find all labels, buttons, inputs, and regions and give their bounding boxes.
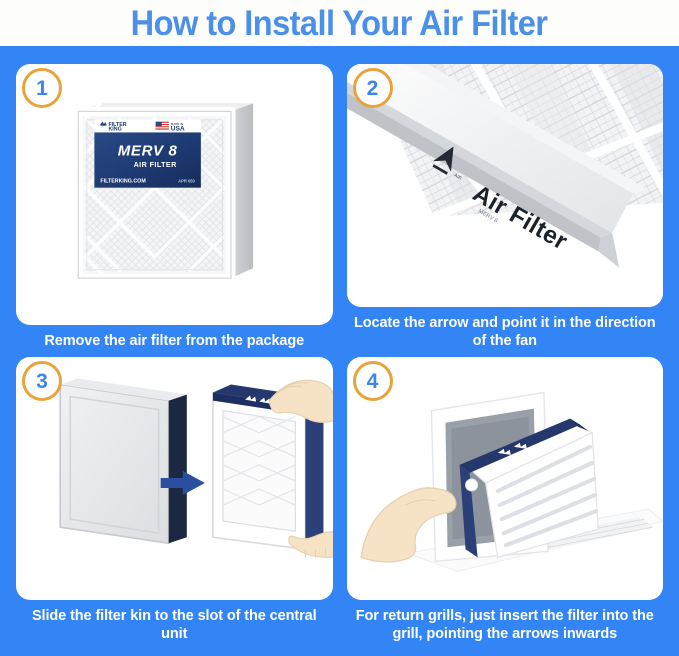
step-panel-1: FILTER KING xyxy=(16,64,333,353)
step-panel-2: AIR Air Filter MERV 8 2 Locate the arrow… xyxy=(347,64,664,353)
pleated-filter-drawing: FILTER KING xyxy=(16,64,333,325)
header-band: How to Install Your Air Filter xyxy=(0,0,679,46)
step-3-illustration xyxy=(16,357,333,600)
svg-text:APR 650: APR 650 xyxy=(178,179,195,184)
page-title: How to Install Your Air Filter xyxy=(131,6,548,41)
step-1-card: FILTER KING xyxy=(16,64,333,325)
product-label: FILTER KING xyxy=(94,119,201,187)
step-1-illustration: FILTER KING xyxy=(16,64,333,325)
step-panel-4: 4 For return grills, just insert the fil… xyxy=(347,357,664,646)
return-grill-drawing xyxy=(347,357,664,600)
step-2-illustration: AIR Air Filter MERV 8 xyxy=(347,64,664,307)
step-panel-3: 3 Slide the filter kin to the slot of th… xyxy=(16,357,333,646)
step-caption-3: Slide the filter kin to the slot of the … xyxy=(16,600,333,646)
step-number-badge-1: 1 xyxy=(22,68,62,108)
step-2-card: AIR Air Filter MERV 8 2 xyxy=(347,64,664,307)
step-number-badge-2: 2 xyxy=(353,68,393,108)
step-caption-2: Locate the arrow and point it in the dir… xyxy=(347,307,664,353)
step-number-badge-3: 3 xyxy=(22,361,62,401)
svg-text:AIR FILTER: AIR FILTER xyxy=(134,160,178,169)
steps-grid: FILTER KING xyxy=(0,46,679,656)
step-caption-1: Remove the air filter from the package xyxy=(16,325,333,353)
slide-filter-drawing xyxy=(16,357,333,600)
step-4-card: 4 xyxy=(347,357,664,600)
infographic-root: How to Install Your Air Filter xyxy=(0,0,679,656)
step-3-card: 3 xyxy=(16,357,333,600)
filter-corner-drawing: AIR Air Filter MERV 8 xyxy=(347,64,664,307)
svg-text:FILTERKING.COM: FILTERKING.COM xyxy=(100,179,146,185)
step-number-badge-4: 4 xyxy=(353,361,393,401)
svg-text:USA: USA xyxy=(171,125,185,132)
central-unit-slab xyxy=(60,378,187,543)
svg-text:KING: KING xyxy=(108,127,121,133)
step-4-illustration xyxy=(347,357,664,600)
step-caption-4: For return grills, just insert the filte… xyxy=(347,600,664,646)
svg-text:MERV 8: MERV 8 xyxy=(118,143,178,160)
